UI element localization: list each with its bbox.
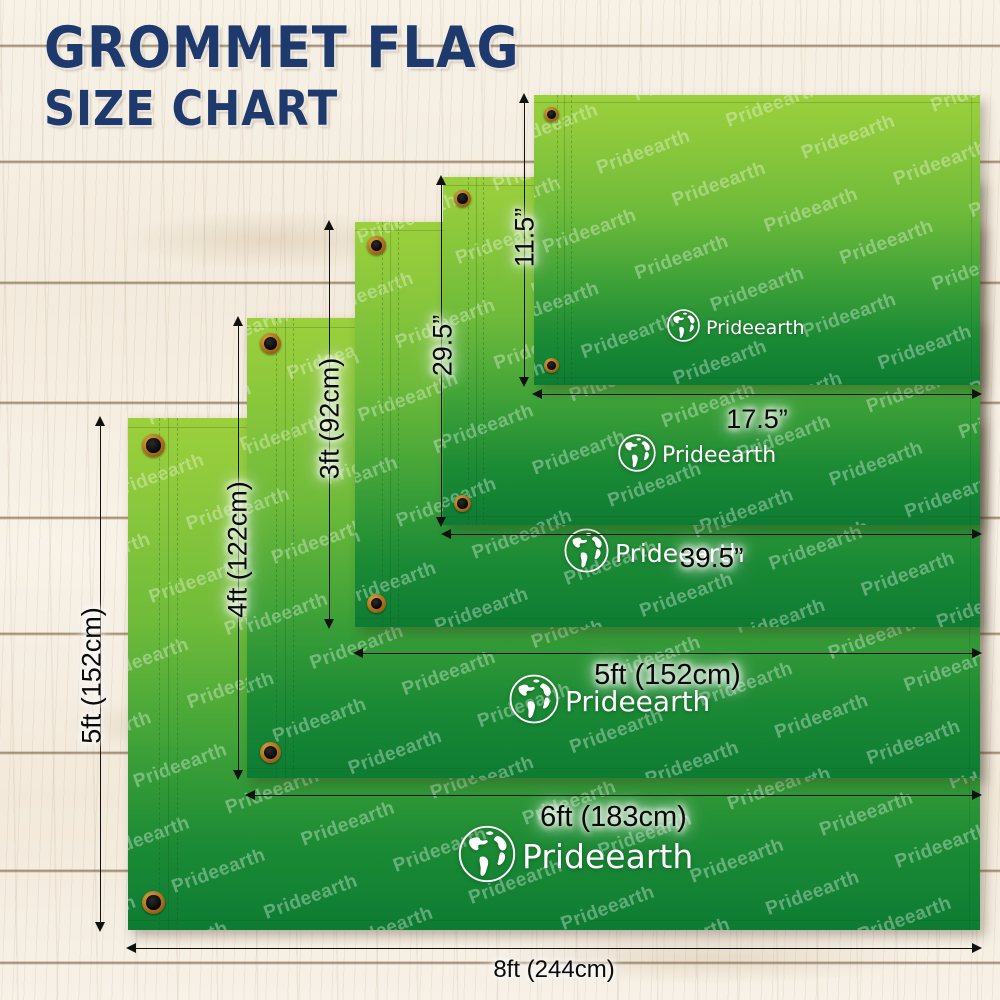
globe-icon [618,434,656,477]
grommet-top-left [142,434,165,457]
grommet-bottom-left [454,495,471,512]
title-line-2: SIZE CHART [44,87,520,132]
flag-stitch-line [557,95,558,385]
brand-lockup: Prideearth [618,434,776,477]
brand-lockup: Prideearth [667,309,805,347]
dimension-label-width-8ft: 8ft (244cm) [128,956,980,984]
flag-stitch-line [483,177,484,525]
dimension-label-width-17p5: 17.5” [534,404,980,435]
flag-stitch-line [177,418,178,930]
dimension-label-width-6ft: 6ft (183cm) [247,801,980,834]
flag-stitch-line [293,318,294,778]
flag-stitch-line [571,95,572,385]
brand-name: Prideearth [706,317,805,339]
size-chart-canvas: GROMMET FLAG SIZE CHART Prideearth Pride… [0,0,1000,1000]
grommet-top-left [454,190,471,207]
dimension-label-height-5ft: 5ft (152cm) [77,531,108,821]
flag-hem-right [971,95,972,385]
brand-name: Prideearth [662,443,776,468]
grommet-bottom-left [142,891,165,914]
title-line-1: GROMMET FLAG [44,22,520,76]
globe-icon [458,825,516,888]
grommet-top-left [367,236,386,255]
flag-hem-bottom [247,768,980,769]
brand-lockup: Prideearth [458,825,693,888]
flag-hem-top [534,102,980,103]
dimension-label-height-29p5: 29.5” [428,271,459,421]
grommet-bottom-left [260,742,281,763]
grommet-top-left [260,333,281,354]
globe-icon [667,309,700,347]
grommet-bottom-left [367,594,386,613]
flag-hem-bottom [443,516,980,517]
flag-stitch-line [468,177,469,525]
page-title: GROMMET FLAG SIZE CHART [44,22,572,132]
flag-hoist-sleeve [355,222,391,627]
brand-name: Prideearth [522,837,693,876]
flag-stitch-line [398,222,399,627]
flag-stitch-line [276,318,277,778]
flag-11p5-x-17p5[interactable]: Prideearth Prideearth Prideearth Prideea… [534,95,980,385]
dimension-label-height-4ft: 4ft (122cm) [223,405,254,695]
flag-hem-bottom [355,618,980,619]
grommet-bottom-left [544,358,559,373]
dimension-label-height-11p5: 11.5” [510,183,541,293]
flag-stitch-line [159,418,160,930]
flag-hem-bottom [534,377,980,378]
dimension-label-height-3ft: 3ft (92cm) [315,299,346,539]
dimension-label-width-5ft: 5ft (152cm) [355,659,980,692]
flag-hoist-sleeve [128,418,169,930]
dimension-label-width-39p5: 39.5” [443,542,980,574]
flag-stitch-line [382,222,383,627]
flag-hem-bottom [128,920,980,921]
